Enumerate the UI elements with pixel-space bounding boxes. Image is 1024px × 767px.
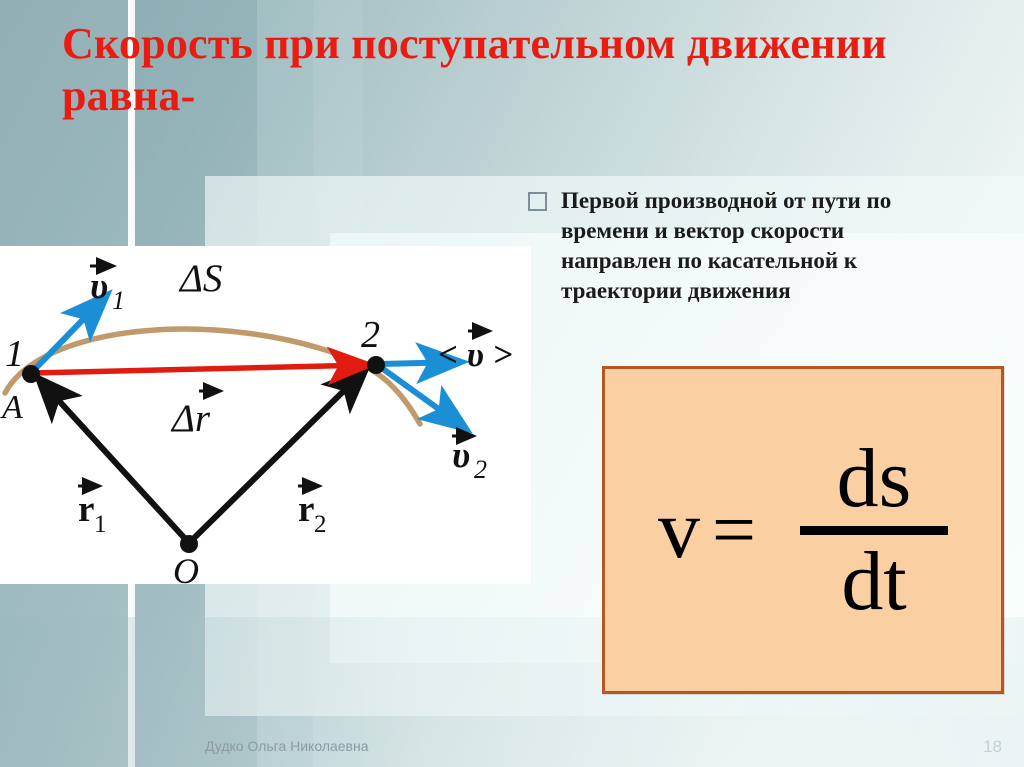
formula-fraction: ds dt [800, 436, 948, 624]
radius-vector-1 [39, 379, 189, 543]
physics-diagram-card: υ 1 ΔS 1 A Δr 2 < υ > υ 2 [0, 246, 531, 584]
label-point-1: 1 [5, 333, 24, 375]
label-velocity-2-sub: 2 [474, 455, 487, 484]
footer-page-number: 18 [983, 737, 1002, 757]
label-radius-1-sub: 1 [94, 511, 107, 538]
radius-vector-2 [189, 370, 365, 543]
formula-expression: v = ds dt [658, 436, 948, 624]
label-radius-2-sub: 2 [314, 511, 327, 538]
displacement-vector [33, 365, 368, 373]
formula-box: v = ds dt [602, 366, 1004, 694]
velocity-vector-1 [31, 296, 106, 373]
label-radius-2: r [298, 489, 314, 530]
formula-variable: v [658, 492, 706, 568]
label-point-2: 2 [361, 314, 380, 356]
velocity-vector-2 [379, 366, 465, 428]
label-point-O: O [173, 551, 199, 584]
label-velocity-1: υ [90, 266, 108, 307]
point-marker-2 [367, 356, 385, 374]
label-arc-length: ΔS [178, 257, 222, 300]
hollow-square-bullet-icon [528, 192, 547, 211]
formula-numerator: ds [837, 436, 912, 522]
label-velocity-1-sub: 1 [112, 286, 125, 315]
footer-author: Дудко Ольга Николаевна [205, 738, 369, 754]
label-displacement: Δr [170, 397, 211, 440]
label-point-A: A [0, 389, 23, 426]
label-radius-1: r [78, 489, 94, 530]
formula-fraction-bar [800, 526, 948, 535]
formula-equals-sign: = [712, 495, 756, 565]
slide-title: Скорость при поступательном движении рав… [62, 18, 962, 122]
formula-denominator: dt [841, 539, 906, 625]
point-marker-1 [22, 365, 40, 383]
label-average-velocity: < υ > [438, 335, 513, 374]
slide-canvas: Скорость при поступательном движении рав… [0, 0, 1024, 767]
bullet-item-text: Первой производной от пути по времени и … [561, 186, 928, 306]
physics-diagram: υ 1 ΔS 1 A Δr 2 < υ > υ 2 [0, 246, 531, 584]
bullet-list: Первой производной от пути по времени и … [528, 186, 928, 306]
label-velocity-2: υ [452, 435, 470, 476]
